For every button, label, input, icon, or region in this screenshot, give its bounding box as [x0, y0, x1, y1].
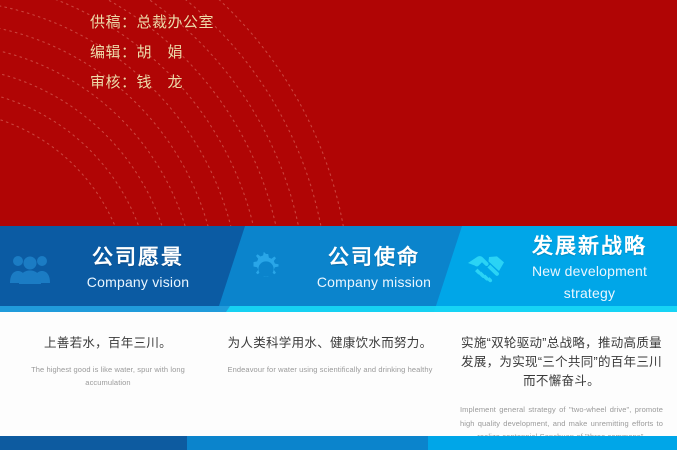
footer-color-bar [0, 436, 677, 450]
handshake-icon [464, 247, 508, 291]
banner-panel-company-mission[interactable]: 公司使命 Company mission [228, 226, 466, 312]
content-column-1-en: The highest good is like water, spur wit… [12, 363, 204, 389]
banner-panel-company-vision[interactable]: 公司愿景 Company vision [0, 226, 230, 312]
banner-panel-1-title-cn: 公司愿景 [52, 245, 224, 271]
content-column-3-cn: 实施“双轮驱动”总战略，推动高质量发展，为实现“三个共同”的百年三川而不懈奋斗。 [460, 334, 663, 391]
banner-panel-1-title-en: Company vision [52, 271, 224, 293]
banner-panel-new-development-strategy[interactable]: 发展新战略 New development strategy [462, 226, 677, 312]
content-column-2-cn: 为人类科学用水、健康饮水而努力。 [226, 334, 434, 353]
credit-line-contributor: 供稿：总裁办公室 [90, 8, 510, 38]
footer-segment-2 [187, 436, 428, 450]
banner-panel-3-title-en: New development strategy [508, 260, 671, 304]
footer-segment-3 [428, 436, 677, 450]
content-section: 上善若水，百年三川。 The highest good is like wate… [0, 312, 677, 436]
gear-icon [244, 247, 288, 291]
banner-panel-3-title-cn: 发展新战略 [508, 234, 671, 260]
credit-line-reviewer: 审核：钱 龙 [90, 68, 510, 98]
content-column-vision: 上善若水，百年三川。 The highest good is like wate… [0, 312, 216, 436]
banner-panel-3-text: 发展新战略 New development strategy [508, 234, 677, 304]
banner-panel-2-title-en: Company mission [288, 271, 460, 293]
footer-segment-1 [0, 436, 187, 450]
credits-block: 供稿：总裁办公室 编辑：胡 娟 审核：钱 龙 [90, 8, 510, 98]
hero-red-section: 供稿：总裁办公室 编辑：胡 娟 审核：钱 龙 [0, 0, 677, 226]
blue-banner-section: 公司愿景 Company vision 公司使命 Company mission [0, 226, 677, 312]
content-column-1-cn: 上善若水，百年三川。 [12, 334, 204, 353]
content-column-mission: 为人类科学用水、健康饮水而努力。 Endeavour for water usi… [216, 312, 444, 436]
people-group-icon [8, 247, 52, 291]
credit-line-editor: 编辑：胡 娟 [90, 38, 510, 68]
content-column-2-en: Endeavour for water using scientifically… [226, 363, 434, 376]
banner-panel-1-text: 公司愿景 Company vision [52, 245, 230, 293]
banner-panel-2-text: 公司使命 Company mission [288, 245, 466, 293]
content-column-strategy: 实施“双轮驱动”总战略，推动高质量发展，为实现“三个共同”的百年三川而不懈奋斗。… [444, 312, 677, 436]
banner-panel-2-title-cn: 公司使命 [288, 245, 460, 271]
